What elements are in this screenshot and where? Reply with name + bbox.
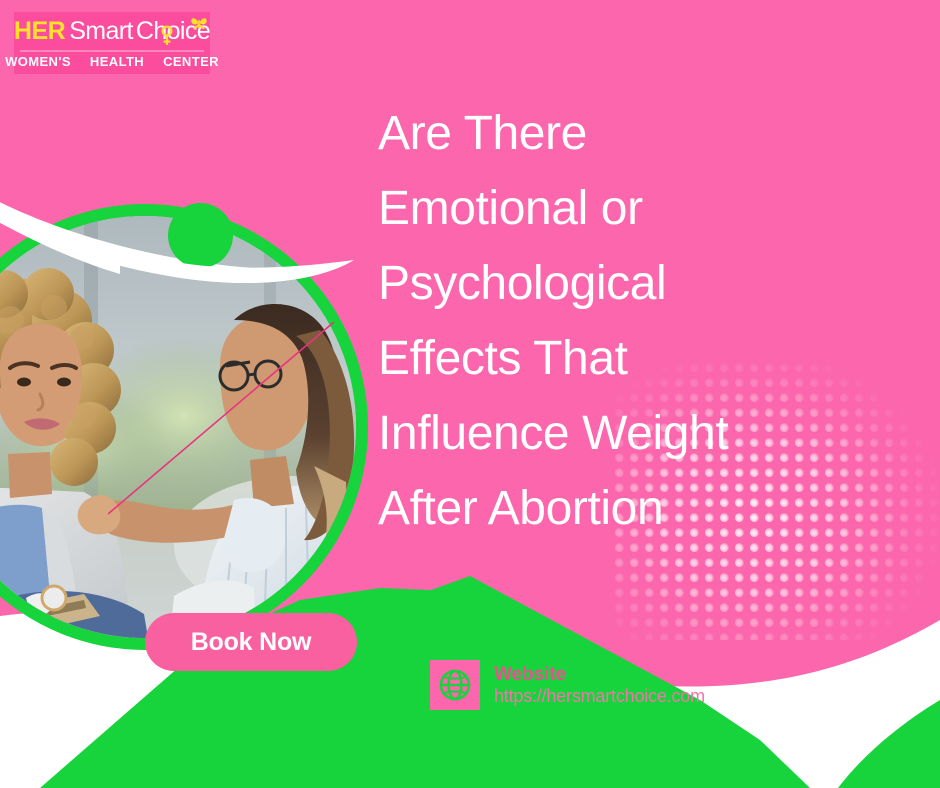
photo-illustration <box>0 216 356 638</box>
globe-icon-container <box>430 660 480 710</box>
photo-clip <box>0 216 356 638</box>
book-now-button[interactable]: Book Now <box>145 613 357 671</box>
headline: Are There Emotional or Psychological Eff… <box>378 96 830 546</box>
globe-icon <box>438 668 472 702</box>
headline-line-4: Effects That <box>378 321 830 396</box>
headline-line-1: Are There <box>378 96 830 171</box>
venus-symbol-icon <box>161 25 173 46</box>
headline-line-6: After Abortion <box>378 471 830 546</box>
logo-tagline-center: CENTER <box>163 54 219 69</box>
logo-tagline-health: HEALTH <box>90 54 144 69</box>
poster-canvas: HER Smart Choice WOMEN'S <box>0 0 940 788</box>
counseling-photo <box>0 204 368 650</box>
brand-logo[interactable]: HER Smart Choice WOMEN'S <box>14 12 210 74</box>
website-text-group: Website https://hersmartchoice.com <box>494 664 705 706</box>
logo-choice-text: Choice <box>136 19 210 44</box>
logo-wordmark: HER Smart Choice <box>14 12 210 50</box>
logo-divider <box>20 50 204 52</box>
headline-line-5: Influence Weight <box>378 396 830 471</box>
website-label: Website <box>494 664 705 685</box>
logo-her-text: HER <box>14 19 65 44</box>
website-contact[interactable]: Website https://hersmartchoice.com <box>430 660 705 710</box>
logo-smart-text: Smart <box>69 19 133 44</box>
logo-tagline: WOMEN'S HEALTH CENTER <box>14 50 210 72</box>
logo-tagline-womens: WOMEN'S <box>5 54 71 69</box>
butterfly-icon <box>190 16 208 30</box>
website-url[interactable]: https://hersmartchoice.com <box>494 686 705 706</box>
green-dot-shape <box>168 203 233 268</box>
headline-line-3: Psychological <box>378 246 830 321</box>
headline-line-2: Emotional or <box>378 171 830 246</box>
